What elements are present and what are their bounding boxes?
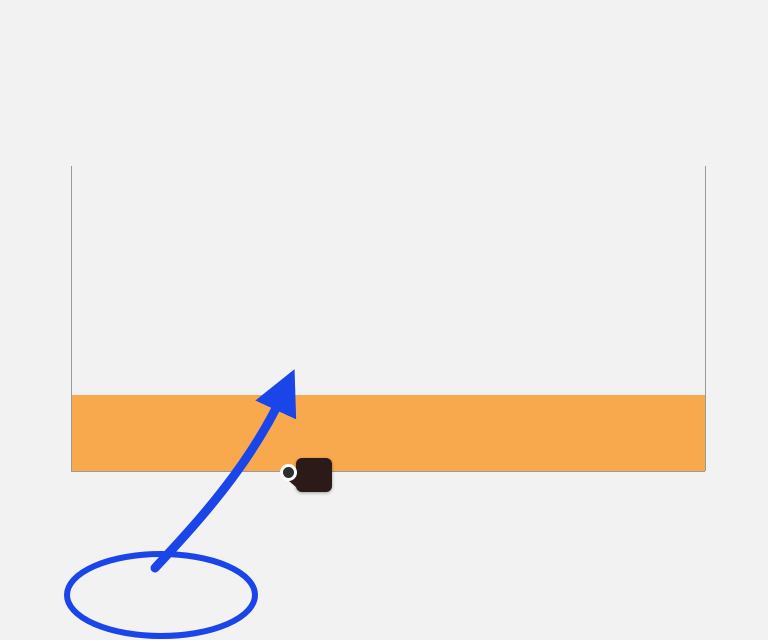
y2-axis-line (705, 166, 706, 471)
page-header (0, 0, 768, 8)
chart-tooltip (296, 458, 332, 492)
chart-legend (0, 566, 768, 640)
annual-savings-area (71, 395, 705, 471)
tooltip-row-portfolio (302, 475, 324, 487)
tooltip-swatch-portfolio (302, 475, 314, 487)
y-axis-line (71, 166, 72, 471)
tooltip-row-savings (302, 463, 324, 475)
plot-area (71, 166, 705, 471)
tooltip-swatch-savings (302, 463, 314, 475)
data-point-marker[interactable] (280, 464, 297, 481)
x-axis-line (71, 471, 705, 472)
chart-container (0, 152, 768, 552)
